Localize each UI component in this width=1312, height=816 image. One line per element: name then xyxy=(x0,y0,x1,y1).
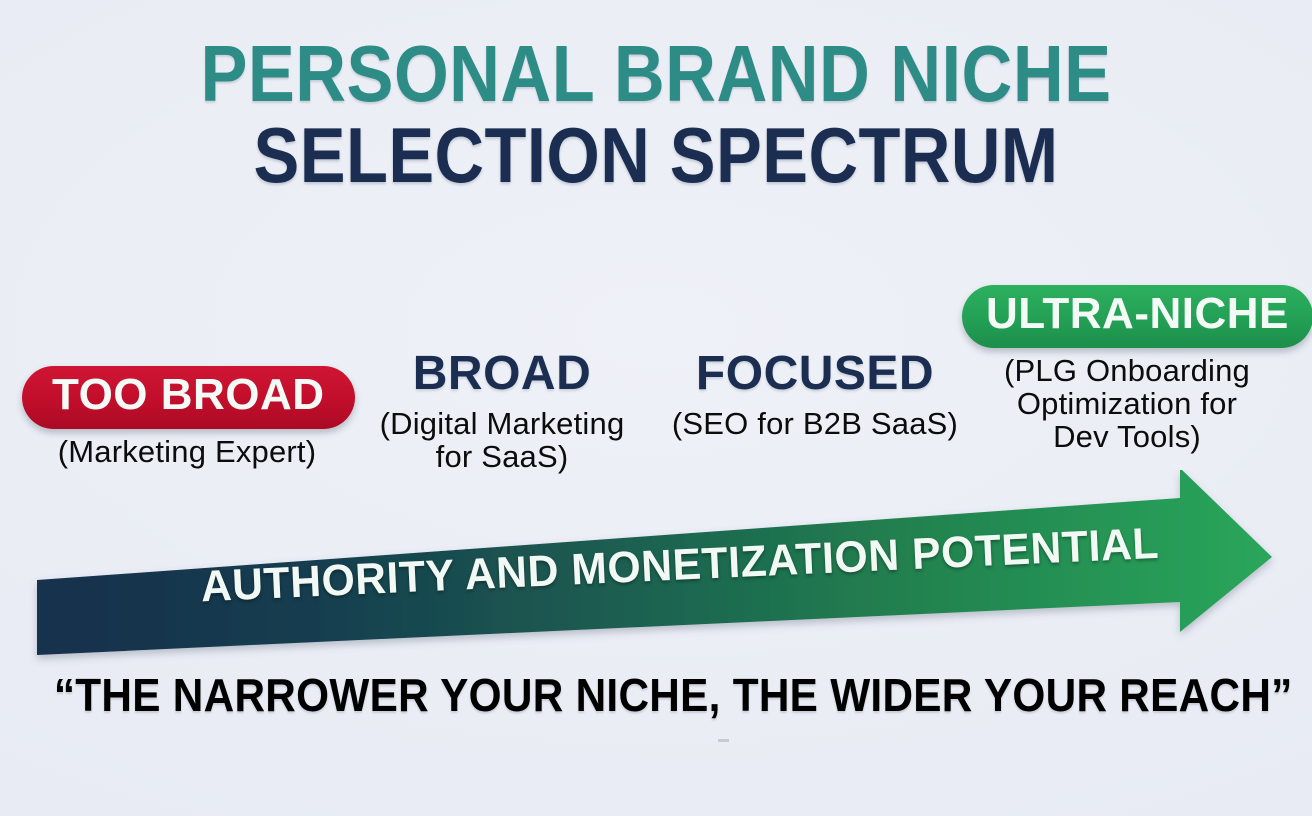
stage-heading-focused: FOCUSED xyxy=(660,346,970,401)
spectrum-stage-ultra-niche: ULTRA-NICHE (PLG Onboarding Optimization… xyxy=(962,285,1292,454)
stage-example-line: (Digital Marketing xyxy=(352,408,652,441)
stage-example-line: Optimization for xyxy=(962,388,1292,421)
arrow-graphic xyxy=(0,470,1312,670)
stage-example-too-broad: (Marketing Expert) xyxy=(22,436,352,469)
spectrum-stage-focused: FOCUSED (SEO for B2B SaaS) xyxy=(660,346,970,441)
page-title: PERSONAL BRAND NICHE SELECTION SPECTRUM xyxy=(0,36,1312,192)
stage-example-line: Dev Tools) xyxy=(962,421,1292,454)
stage-example-line: (SEO for B2B SaaS) xyxy=(660,408,970,441)
stage-example-broad: (Digital Marketing for SaaS) xyxy=(352,408,652,474)
tagline-quote-text: “THE NARROWER YOUR NICHE, THE WIDER YOUR… xyxy=(54,668,1293,722)
decorative-dash xyxy=(718,739,729,742)
stage-badge-ultra-niche: ULTRA-NICHE xyxy=(962,285,1312,348)
tagline-quote: “THE NARROWER YOUR NICHE, THE WIDER YOUR… xyxy=(0,668,1312,722)
stage-example-line: for SaaS) xyxy=(352,441,652,474)
stage-example-focused: (SEO for B2B SaaS) xyxy=(660,408,970,441)
stage-example-line: (Marketing Expert) xyxy=(22,436,352,469)
infographic-canvas: PERSONAL BRAND NICHE SELECTION SPECTRUM … xyxy=(0,0,1312,816)
stage-example-ultra-niche: (PLG Onboarding Optimization for Dev Too… xyxy=(962,355,1292,454)
stage-badge-too-broad: TOO BROAD xyxy=(22,366,355,429)
title-line-secondary: SELECTION SPECTRUM xyxy=(79,118,1234,192)
spectrum-stage-broad: BROAD (Digital Marketing for SaaS) xyxy=(352,346,652,474)
spectrum-stage-too-broad: TOO BROAD (Marketing Expert) xyxy=(22,366,352,469)
stage-example-line: (PLG Onboarding xyxy=(962,355,1292,388)
stage-heading-broad: BROAD xyxy=(352,346,652,401)
title-line-primary: PERSONAL BRAND NICHE xyxy=(79,36,1234,112)
spectrum-arrow xyxy=(0,470,1312,670)
